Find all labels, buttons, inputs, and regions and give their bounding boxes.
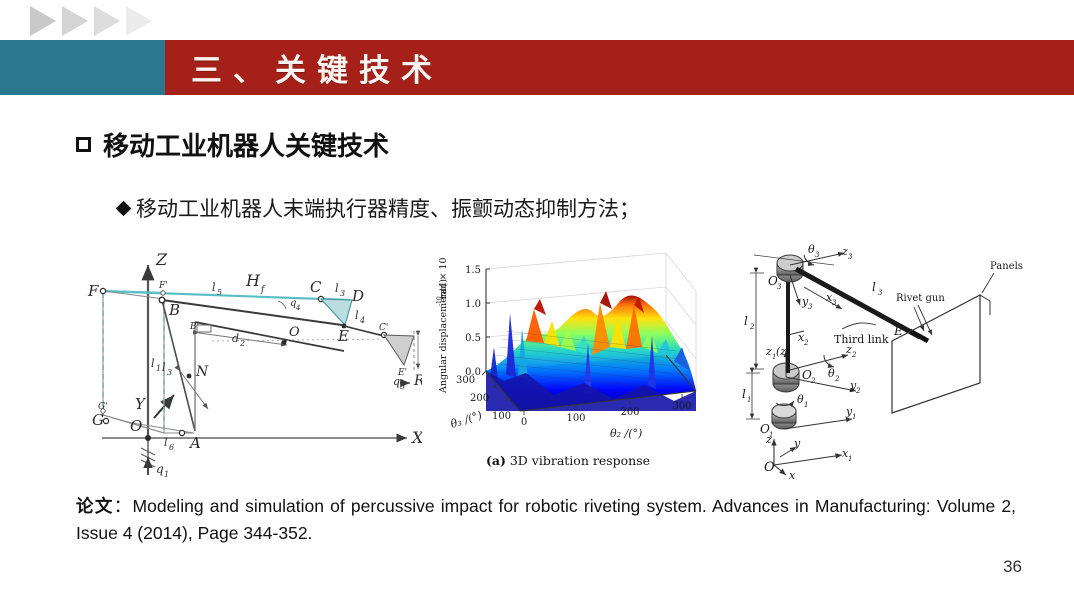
svg-text:d: d (232, 332, 239, 345)
svg-text:3: 3 (848, 253, 853, 261)
chart-caption: (a) 3D vibration response (486, 453, 650, 468)
svg-text:2: 2 (803, 339, 809, 347)
svg-text:l: l (355, 309, 359, 322)
play-triangle-icon-2 (62, 6, 88, 36)
svg-text:1: 1 (769, 431, 773, 439)
play-triangle-icon-1 (30, 6, 56, 36)
label-O: O (764, 460, 775, 475)
svg-text:H: H (245, 271, 261, 290)
heading-level-1: 移动工业机器人关键技术 (76, 126, 389, 163)
svg-text:2: 2 (810, 377, 816, 385)
xtick-300: 300 (672, 401, 691, 412)
svg-text:3: 3 (808, 303, 813, 311)
svg-text:l: l (742, 387, 746, 401)
svg-text:5: 5 (217, 288, 222, 297)
svg-text:θ: θ (808, 243, 815, 256)
svg-text:z: z (841, 245, 848, 258)
svg-text:z: z (765, 345, 772, 358)
chart-xlabel: θ₂ /(°) (610, 427, 642, 440)
ztick-300: 300 (456, 375, 475, 386)
header-red-block: 三、关键技术 (165, 40, 1074, 95)
svg-text:l: l (162, 361, 166, 374)
svg-text:3: 3 (815, 251, 820, 259)
svg-text:B': B' (189, 322, 199, 332)
kinematic-linkage-svg: Z X Y q1 (62, 243, 422, 483)
svg-text:l: l (164, 436, 168, 449)
annotation-third-link: Third link (834, 333, 889, 346)
svg-text:X: X (410, 428, 422, 447)
caption-separator: ： (114, 496, 133, 516)
svg-text:G': G' (98, 402, 108, 412)
svg-text:l: l (872, 280, 876, 294)
xtick-200: 200 (620, 407, 639, 418)
svg-text:F': F' (158, 281, 168, 291)
svg-text:q: q (156, 462, 164, 476)
ztick-100: 100 (492, 411, 511, 422)
ytick-0.5: 0.5 (465, 333, 481, 344)
svg-text:6: 6 (169, 443, 174, 452)
svg-text:O: O (130, 417, 142, 435)
svg-text:4: 4 (359, 316, 365, 325)
slide: 三、关键技术 移动工业机器人关键技术 移动工业机器人末端执行器精度、振颤动态抑制… (0, 0, 1074, 595)
svg-text:f: f (260, 285, 266, 295)
hollow-square-bullet-icon (76, 137, 91, 152)
svg-text:2: 2 (834, 375, 840, 383)
chart-zlabel: θ₃ /(°) (449, 408, 484, 430)
svg-text:A: A (188, 434, 201, 452)
heading-level-1-text: 移动工业机器人关键技术 (103, 126, 389, 163)
chart-ylabel: Angular displacement( × 10 (438, 257, 449, 394)
svg-text:Z: Z (155, 250, 168, 269)
svg-text:y: y (793, 437, 801, 450)
heading-level-2: 移动工业机器人末端执行器精度、振颤动态抑制方法； (118, 193, 640, 223)
header-teal-block (0, 40, 165, 95)
svg-text:l: l (151, 357, 155, 370)
play-triangle-icon-3 (94, 6, 120, 36)
svg-text:x: x (789, 469, 796, 482)
svg-text:2: 2 (749, 323, 755, 331)
play-triangle-icon-4 (126, 6, 152, 36)
slide-title: 三、关键技术 (191, 45, 443, 90)
svg-text:R: R (413, 373, 422, 389)
figure-kinematic-linkage: Z X Y q1 (62, 243, 422, 483)
svg-text:θ: θ (828, 367, 835, 380)
annotation-rivet-gun: Rivet gun (896, 293, 945, 304)
filled-diamond-bullet-icon (116, 200, 132, 216)
heading-level-2-text: 移动工业机器人末端执行器精度、振颤动态抑制方法； (136, 193, 640, 223)
svg-text:3: 3 (777, 283, 782, 291)
svg-text:q: q (393, 375, 400, 388)
svg-text:Y: Y (135, 395, 147, 413)
figure-robot-arm-riveting: O x z x1 y O1 y1 (742, 243, 1052, 483)
svg-text:3: 3 (878, 289, 883, 297)
reference-caption: 论文：Modeling and simulation of percussive… (76, 493, 1016, 546)
svg-text:2: 2 (855, 387, 861, 395)
svg-text:D: D (351, 287, 364, 305)
caption-text: Modeling and simulation of percussive im… (76, 496, 1016, 543)
svg-text:l: l (212, 281, 216, 294)
ytick-1.0: 1.0 (465, 299, 481, 310)
svg-text:C': C' (379, 323, 388, 333)
svg-text:B: B (168, 301, 180, 319)
svg-text:l: l (335, 282, 339, 295)
svg-text:O: O (289, 325, 300, 340)
svg-text:rad): rad) (438, 279, 449, 299)
ytick-1.5: 1.5 (465, 265, 481, 276)
svg-text:θ: θ (797, 393, 804, 406)
xtick-0: 0 (521, 417, 527, 428)
svg-text:2: 2 (851, 351, 857, 359)
robot-arm-svg: O x z x1 y O1 y1 (742, 243, 1052, 483)
svg-text:1: 1 (164, 470, 169, 479)
xtick-100: 100 (566, 413, 585, 424)
svg-text:1: 1 (747, 396, 751, 404)
svg-text:3: 3 (832, 299, 837, 307)
svg-text:G: G (92, 411, 104, 429)
svg-text:1: 1 (156, 364, 161, 373)
svg-text:4: 4 (295, 304, 300, 312)
svg-text:E: E (337, 327, 349, 345)
svg-text:1: 1 (804, 401, 808, 409)
ztick-200: 200 (470, 393, 489, 404)
figure-3d-vibration-response: Angular displacement( × 10 -10 rad) 1.5 … (434, 243, 702, 483)
svg-text:3: 3 (167, 368, 172, 377)
svg-text:F: F (87, 282, 99, 300)
svg-text:C: C (310, 278, 322, 296)
vibration-surface-svg: Angular displacement( × 10 -10 rad) 1.5 … (434, 243, 702, 483)
svg-text:1: 1 (852, 413, 856, 421)
triangle-decoration-strip (30, 5, 152, 37)
svg-text:1: 1 (848, 455, 852, 463)
figure-row: Z X Y q1 (62, 243, 1052, 483)
svg-text:N: N (195, 364, 209, 380)
slide-header-bar: 三、关键技术 (0, 40, 1074, 95)
annotation-panels: Panels (990, 261, 1023, 272)
caption-prefix: 论文 (76, 497, 114, 517)
svg-text:3: 3 (340, 289, 345, 298)
page-number: 36 (1003, 557, 1022, 577)
svg-text:l: l (744, 314, 748, 328)
